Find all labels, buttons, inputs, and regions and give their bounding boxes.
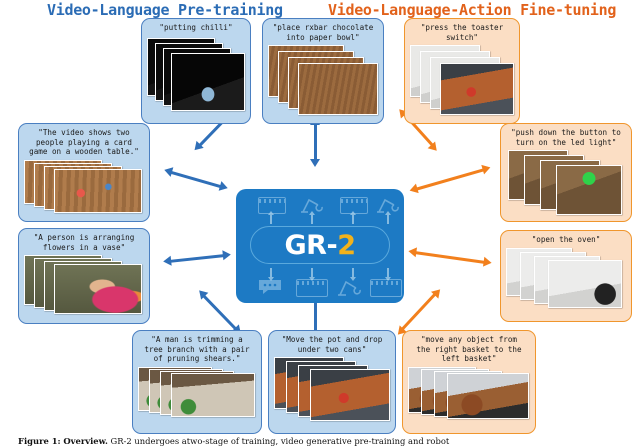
card-baskets[interactable]: "move any object from the right basket t…	[402, 330, 536, 434]
model-name-pill: GR-2	[250, 226, 390, 264]
card-caption: "move any object from the right basket t…	[416, 335, 521, 364]
video-frame	[447, 373, 529, 419]
frame-stack	[506, 248, 626, 316]
heading-finetuning: Video-Language-Action Fine-tuning	[328, 1, 616, 19]
frame-stack	[506, 150, 626, 216]
frame-stack	[268, 45, 378, 118]
arrowhead-left	[163, 165, 173, 177]
video-frame	[440, 63, 514, 115]
frame-stack	[24, 255, 144, 318]
card-caption: "Move the pot and drop under two cans"	[282, 335, 383, 354]
card-card-game[interactable]: "The video shows two people playing a ca…	[18, 123, 150, 222]
frame-stack	[274, 357, 390, 428]
hub-flow-arrow	[270, 268, 272, 277]
frame-stack	[24, 160, 144, 216]
card-rxbar[interactable]: "place rxbar chocolate into paper bowl"	[262, 18, 384, 124]
figure-caption: Figure 1: Overview. GR-2 undergoes atwo-…	[18, 436, 622, 447]
heading-pretraining: Video-Language Pre-training	[47, 1, 283, 19]
arrowhead-left	[163, 256, 172, 267]
figure-canvas: Video-Language Pre-training Video-Langua…	[0, 0, 640, 446]
hub-flow-arrow	[311, 268, 313, 277]
arrow-hub-to-flowers	[163, 249, 232, 266]
card-flowers[interactable]: "A person is arranging flowers in a vase…	[18, 228, 150, 324]
arrow-hub-to-rxbar	[310, 117, 320, 167]
figure-caption-text: GR-2 undergoes atwo-stage of training, v…	[108, 436, 449, 446]
card-caption: "A person is arranging flowers in a vase…	[34, 233, 135, 252]
card-caption: "A man is trimming a tree branch with a …	[144, 335, 249, 364]
card-putting-chilli[interactable]: "putting chilli"	[141, 18, 251, 124]
model-name-suffix: 2	[337, 230, 355, 261]
film-strip-icon	[370, 279, 402, 297]
frame-stack	[408, 367, 530, 428]
card-pot-cans[interactable]: "Move the pot and drop under two cans"	[268, 330, 396, 434]
card-caption: "push down the button to turn on the led…	[511, 128, 621, 147]
hub-flow-arrow	[387, 268, 389, 277]
card-caption: "press the toaster switch"	[421, 23, 503, 42]
card-oven[interactable]: "open the oven"	[500, 230, 632, 322]
hub-flow-arrow	[270, 215, 272, 224]
arrowhead-right	[481, 163, 491, 175]
figure-caption-label: Figure 1:	[18, 436, 61, 446]
arrowhead-left	[408, 246, 417, 257]
model-name-prefix: GR-	[285, 230, 338, 261]
hub-flow-arrow	[352, 215, 354, 224]
hub-flow-arrow	[352, 268, 354, 277]
card-caption: "place rxbar chocolate into paper bowl"	[273, 23, 374, 42]
video-frame	[54, 264, 142, 314]
video-frame	[171, 373, 255, 417]
frame-stack	[138, 367, 256, 428]
speech-bubble-icon	[258, 279, 282, 295]
card-caption: "putting chilli"	[159, 23, 232, 33]
card-caption: "open the oven"	[532, 235, 601, 245]
frame-stack	[410, 45, 514, 118]
video-frame	[556, 165, 622, 215]
arrow-hub-to-oven	[408, 246, 493, 268]
video-frame	[310, 369, 390, 421]
arrowhead-right	[222, 249, 231, 260]
card-caption: "The video shows two people playing a ca…	[29, 128, 139, 157]
arrow-hub-to-card-game	[163, 165, 229, 193]
frame-stack	[147, 36, 245, 118]
video-frame	[298, 63, 378, 115]
video-frame	[54, 169, 142, 213]
card-pruning[interactable]: "A man is trimming a tree branch with a …	[132, 330, 262, 434]
arrow-hub-to-led	[408, 163, 492, 196]
arrowhead-left	[408, 184, 418, 196]
card-led-button[interactable]: "push down the button to turn on the led…	[500, 123, 632, 222]
hub-flow-arrow	[387, 215, 389, 224]
video-frame	[548, 260, 622, 308]
model-hub[interactable]: GR-2	[236, 189, 404, 303]
card-toaster[interactable]: "press the toaster switch"	[404, 18, 520, 124]
arrowhead-right	[219, 181, 229, 193]
robot-arm-icon	[336, 278, 362, 296]
arrowhead-left	[310, 159, 320, 167]
video-frame	[171, 53, 245, 111]
model-name: GR-2	[251, 227, 389, 263]
hub-flow-arrow	[311, 215, 313, 224]
figure-caption-title: Overview.	[63, 436, 108, 446]
film-strip-icon	[296, 279, 328, 297]
arrowhead-right	[483, 257, 492, 268]
